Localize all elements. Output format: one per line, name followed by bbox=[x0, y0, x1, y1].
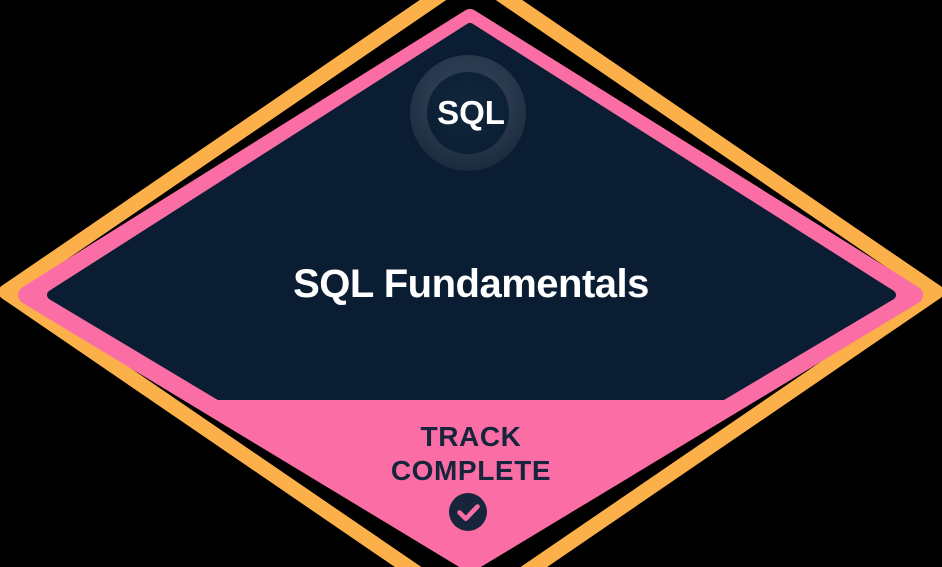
abbrev-badge-inner bbox=[427, 72, 509, 154]
check-badge-circle bbox=[449, 493, 487, 531]
track-completion-badge: SQL SQL Fundamentals TRACK COMPLETE bbox=[0, 0, 942, 567]
badge-graphic bbox=[0, 0, 942, 567]
